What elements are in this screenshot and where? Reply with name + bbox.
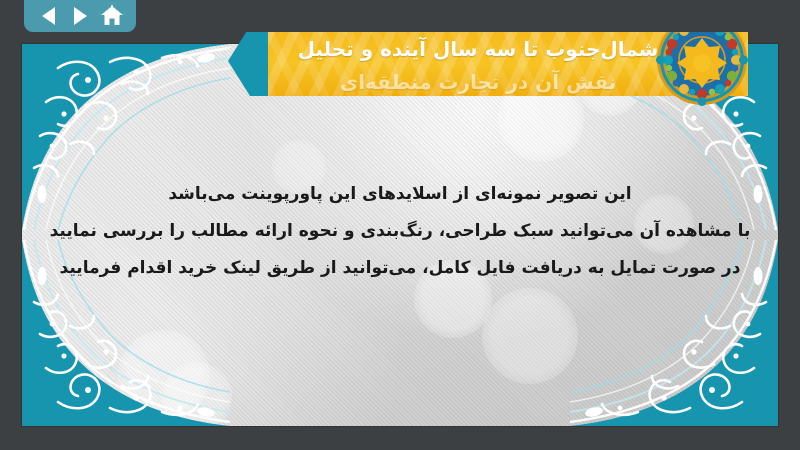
title-line-3: نقش آن در تجارت منطقه‌ای	[268, 66, 688, 99]
back-arrow-icon	[42, 7, 55, 25]
title-line-2: شمال‌جنوب تا سه سال آینده و تحلیل	[268, 33, 688, 66]
forward-button[interactable]	[67, 4, 93, 28]
forward-arrow-icon	[74, 7, 87, 25]
home-button[interactable]	[99, 4, 125, 28]
slide-viewer: این تصویر نمونه‌ای از اسلایدهای این پاور…	[0, 0, 800, 450]
body-line-3: در صورت تمایل به دریافت فایل کامل، می‌تو…	[22, 250, 778, 287]
body-line-2: با مشاهده آن می‌توانید سبک طراحی، رنگ‌بن…	[22, 213, 778, 250]
body-line-1: این تصویر نمونه‌ای از اسلایدهای این پاور…	[22, 176, 778, 213]
slide-body-text: این تصویر نمونه‌ای از اسلایدهای این پاور…	[22, 176, 778, 287]
back-button[interactable]	[35, 4, 61, 28]
ribbon-tail	[228, 26, 270, 96]
navigation-controls	[24, 0, 136, 32]
bokeh-circle	[482, 288, 578, 384]
bokeh-circle	[162, 362, 232, 426]
navigation-bar	[0, 0, 800, 32]
bokeh-circle	[118, 330, 210, 422]
home-icon	[100, 5, 124, 27]
